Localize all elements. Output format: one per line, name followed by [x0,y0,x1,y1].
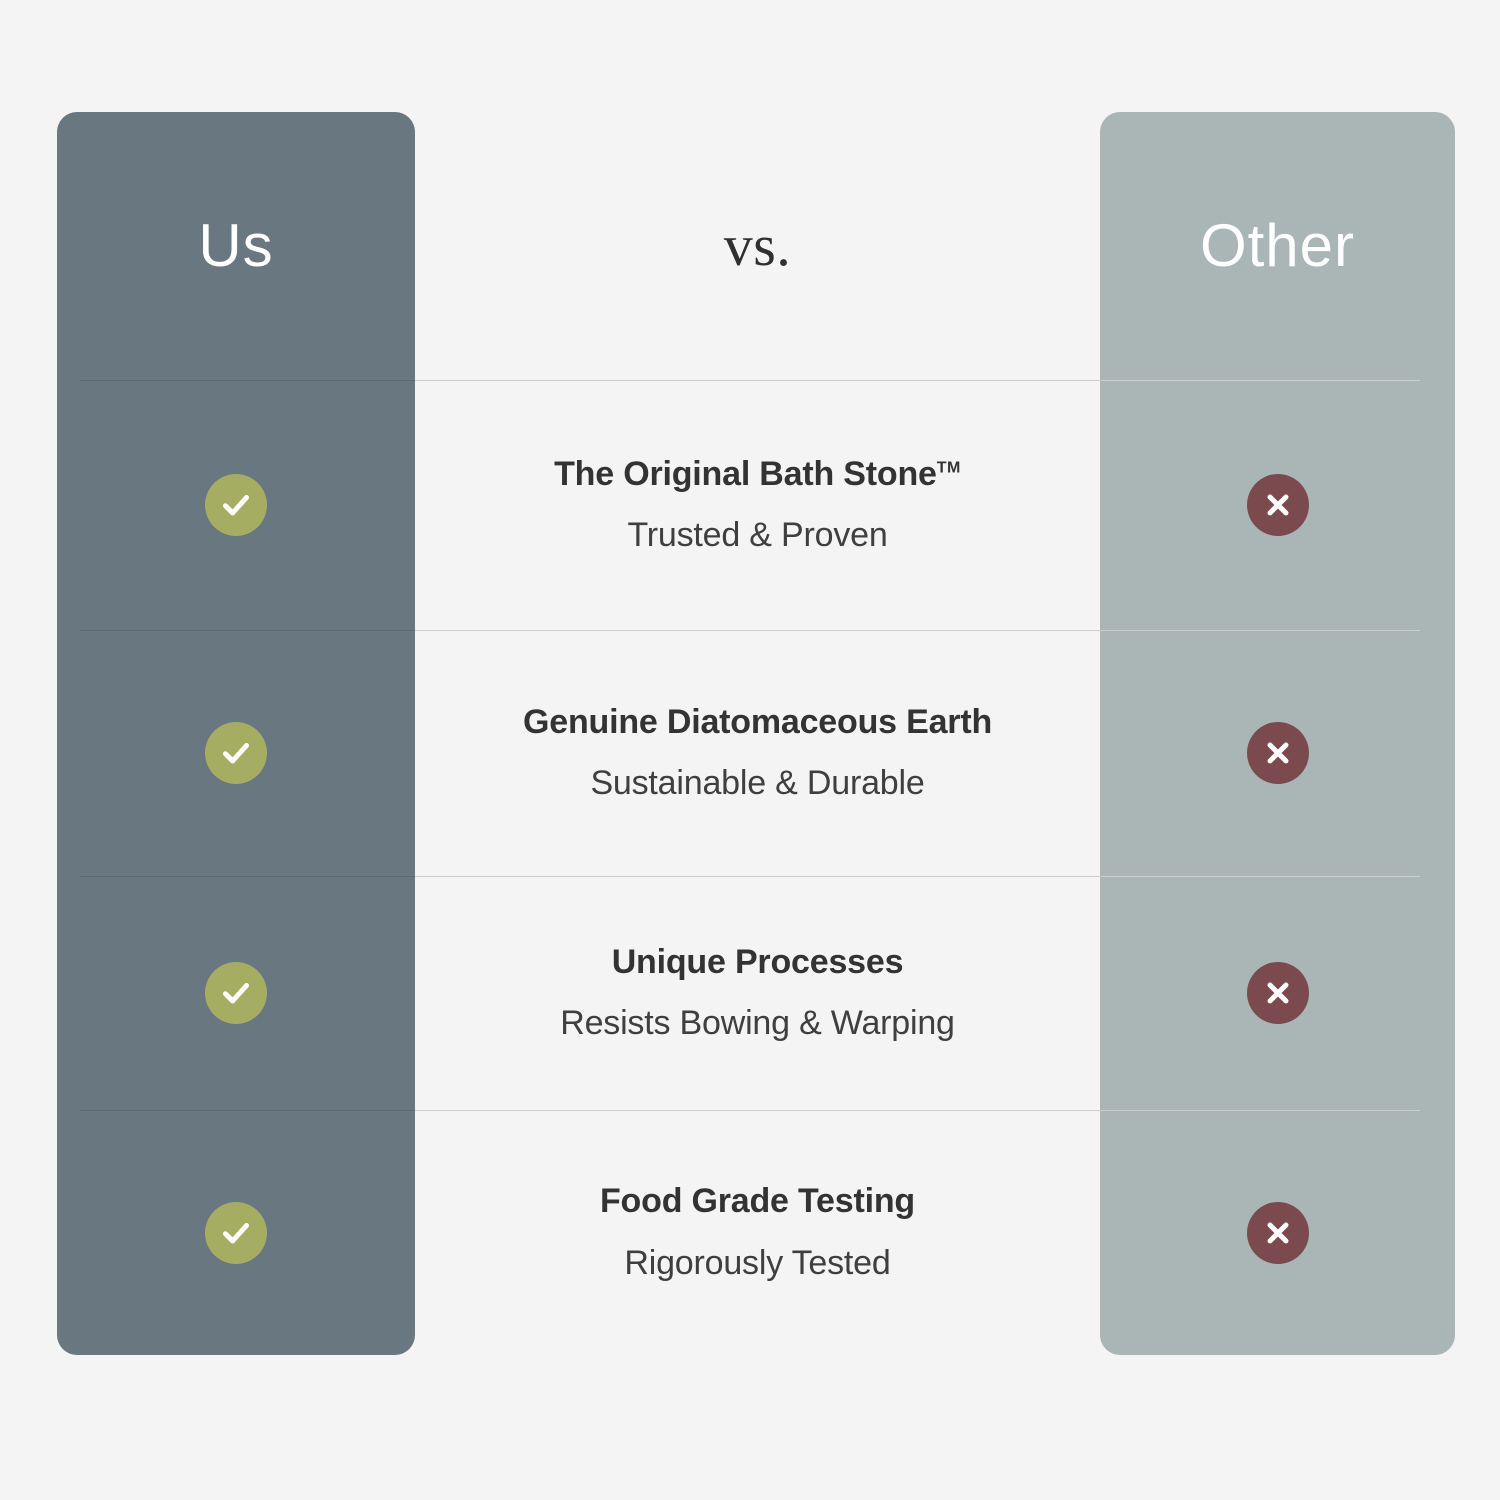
header-cell-other: Other [1100,112,1455,380]
cross-badge [1247,1202,1309,1264]
feature-subtitle: Resists Bowing & Warping [560,1004,955,1043]
check-icon [219,976,253,1010]
header-cell-vs: vs. [415,112,1100,380]
row-cell-us [57,380,415,630]
cross-icon [1262,1217,1294,1249]
check-badge [205,962,267,1024]
check-badge [205,474,267,536]
row-cell-us [57,630,415,876]
cross-icon [1262,737,1294,769]
feature-title-text: Food Grade Testing [600,1182,915,1220]
check-icon [219,736,253,770]
row-cell-us [57,876,415,1110]
vs-header-label: vs. [724,217,792,275]
table-row: The Original Bath StoneTMTrusted & Prove… [0,380,1500,630]
row-cell-feature: The Original Bath StoneTMTrusted & Prove… [415,380,1100,630]
row-cell-feature: Food Grade TestingRigorously Tested [415,1110,1100,1355]
row-cell-other [1100,380,1455,630]
check-icon [219,1216,253,1250]
check-icon [219,488,253,522]
feature-title: Food Grade Testing [600,1182,915,1221]
header-cell-us: Us [57,112,415,380]
table-row: Genuine Diatomaceous EarthSustainable & … [0,630,1500,876]
feature-title-text: Unique Processes [612,943,904,981]
row-cell-us [57,1110,415,1355]
feature-title: Unique Processes [612,943,904,982]
cross-badge [1247,722,1309,784]
check-badge [205,1202,267,1264]
feature-subtitle: Sustainable & Durable [590,764,924,803]
other-header-label: Other [1200,216,1355,276]
cross-badge [1247,474,1309,536]
row-cell-feature: Genuine Diatomaceous EarthSustainable & … [415,630,1100,876]
row-cell-other [1100,876,1455,1110]
trademark-symbol: TM [937,460,961,477]
feature-title-text: Genuine Diatomaceous Earth [523,703,992,741]
row-cell-other [1100,630,1455,876]
table-row: Unique ProcessesResists Bowing & Warping [0,876,1500,1110]
table-row: Food Grade TestingRigorously Tested [0,1110,1500,1355]
cross-badge [1247,962,1309,1024]
feature-title-text: The Original Bath Stone [554,455,937,493]
row-cell-feature: Unique ProcessesResists Bowing & Warping [415,876,1100,1110]
check-badge [205,722,267,784]
feature-title: The Original Bath StoneTM [554,455,961,494]
feature-subtitle: Trusted & Proven [627,516,887,555]
table-header-row: Us vs. Other [0,112,1500,380]
row-cell-other [1100,1110,1455,1355]
cross-icon [1262,977,1294,1009]
cross-icon [1262,489,1294,521]
comparison-table: Us vs. Other The Original Bath StoneTMTr… [0,0,1500,1500]
us-header-label: Us [198,216,273,276]
feature-title: Genuine Diatomaceous Earth [523,703,992,742]
feature-subtitle: Rigorously Tested [624,1244,890,1283]
